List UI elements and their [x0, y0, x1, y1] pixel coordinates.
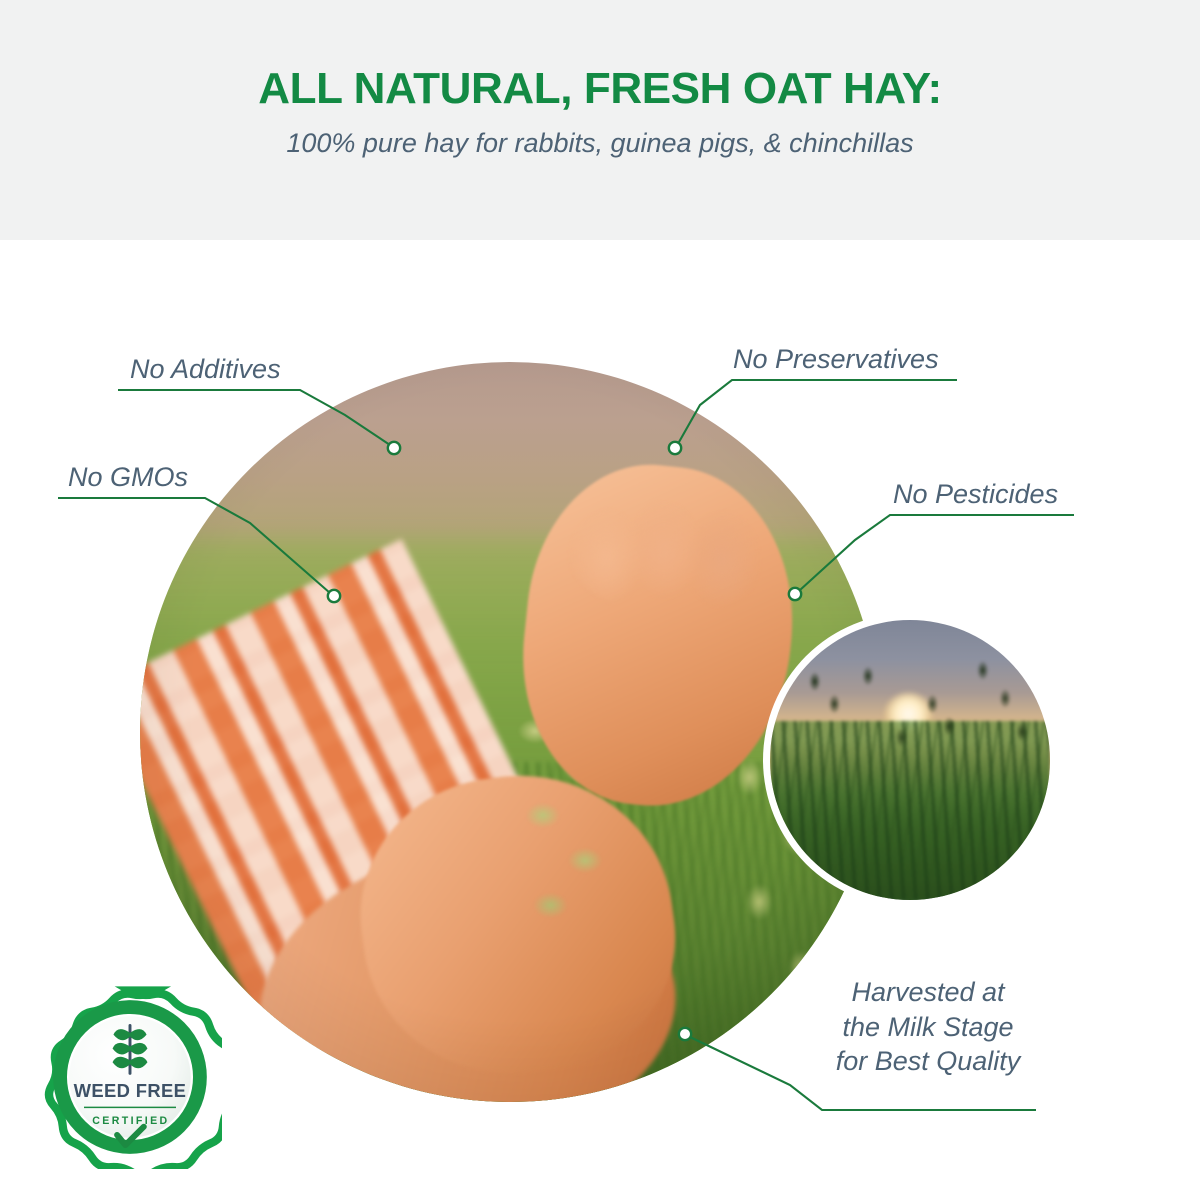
page-title: ALL NATURAL, FRESH OAT HAY:	[258, 66, 941, 112]
badge-subtitle: CERTIFIED	[92, 1115, 169, 1127]
callout-label-harvested: Harvested at the Milk Stage for Best Qua…	[818, 975, 1038, 1079]
header-band: ALL NATURAL, FRESH OAT HAY: 100% pure ha…	[0, 0, 1200, 240]
callout-label-no-pesticides: No Pesticides	[893, 477, 1058, 512]
infographic-stage: No Additives No GMOs No Preservatives No…	[0, 240, 1200, 1200]
inset-photo-ring	[763, 613, 1057, 907]
callout-harvested-line-2: the Milk Stage	[818, 1010, 1038, 1045]
callout-label-no-gmos: No GMOs	[68, 460, 188, 495]
badge-title: WEED FREE	[74, 1080, 187, 1101]
page-subtitle: 100% pure hay for rabbits, guinea pigs, …	[286, 128, 913, 159]
callout-label-no-preservatives: No Preservatives	[733, 342, 939, 377]
wheat-plant-icon	[113, 1025, 148, 1073]
inset-photo-circle	[770, 620, 1050, 900]
weed-free-certified-badge: WEED FREE CERTIFIED	[38, 985, 222, 1169]
callout-harvested-line-1: Harvested at	[818, 975, 1038, 1010]
callout-harvested-line-3: for Best Quality	[818, 1044, 1038, 1079]
callout-label-no-additives: No Additives	[130, 352, 281, 387]
inset-oat-heads	[770, 620, 1050, 900]
